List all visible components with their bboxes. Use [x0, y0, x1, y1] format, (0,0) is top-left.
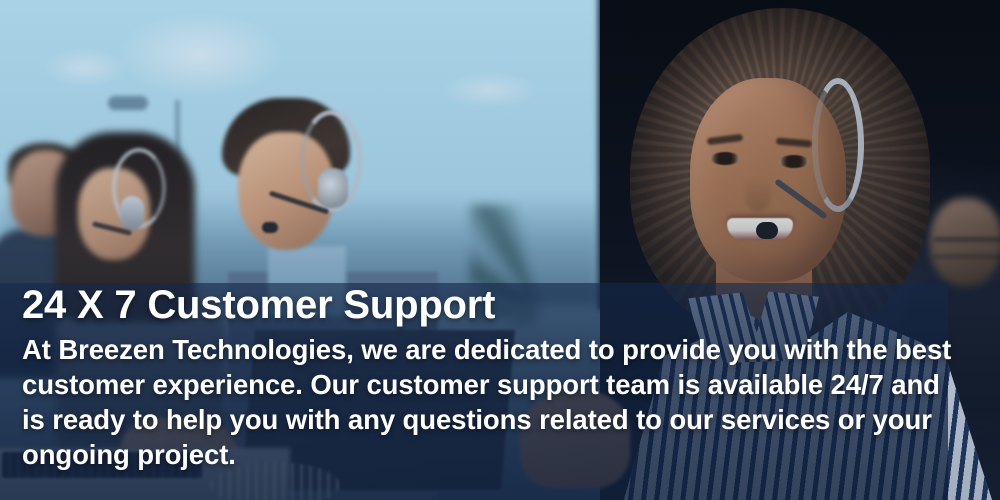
eye-left: [710, 152, 740, 165]
banner-copy: 24 X 7 Customer Support At Breezen Techn…: [22, 284, 952, 473]
ceiling-lamp-icon: [108, 96, 148, 110]
headset-earcup: [120, 196, 144, 230]
page-title: 24 X 7 Customer Support: [22, 284, 952, 327]
banner-description: At Breezen Technologies, we are dedicate…: [22, 333, 952, 473]
headset-mic: [756, 222, 778, 239]
headset-earcup: [318, 168, 348, 208]
headset-icon: [812, 78, 864, 212]
glasses-icon: [934, 238, 1000, 258]
eye-right: [779, 155, 809, 168]
customer-support-banner: 24 X 7 Customer Support At Breezen Techn…: [0, 0, 1000, 500]
headset-mic: [262, 222, 278, 233]
nose: [745, 178, 771, 212]
